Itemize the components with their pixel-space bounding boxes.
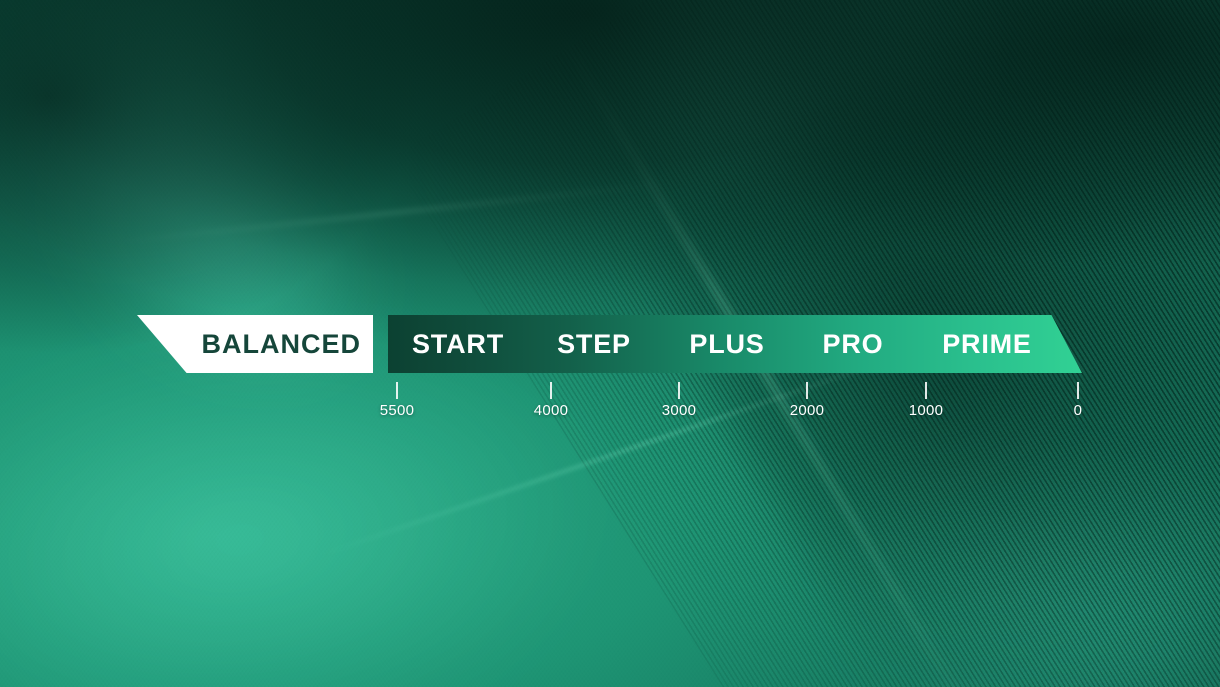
tier-scale-graphic: BALANCED START STEP PLUS PRO PRIME 55004…	[0, 0, 1220, 687]
axis-tick-mark	[806, 382, 808, 399]
axis-tick-label: 1000	[909, 403, 944, 418]
axis-tick-mark	[678, 382, 680, 399]
axis-tick-mark	[550, 382, 552, 399]
axis-tick-label: 2000	[790, 403, 825, 418]
axis-tick-mark	[1077, 382, 1079, 399]
axis-tick-mark	[396, 382, 398, 399]
axis-tick-label: 0	[1074, 403, 1083, 418]
axis-tick-label: 5500	[380, 403, 415, 418]
slide-canvas: BALANCED START STEP PLUS PRO PRIME 55004…	[0, 0, 1220, 687]
scale-axis: 550040003000200010000	[0, 0, 1220, 687]
axis-tick-label: 3000	[662, 403, 697, 418]
axis-tick-mark	[925, 382, 927, 399]
axis-tick-label: 4000	[534, 403, 569, 418]
